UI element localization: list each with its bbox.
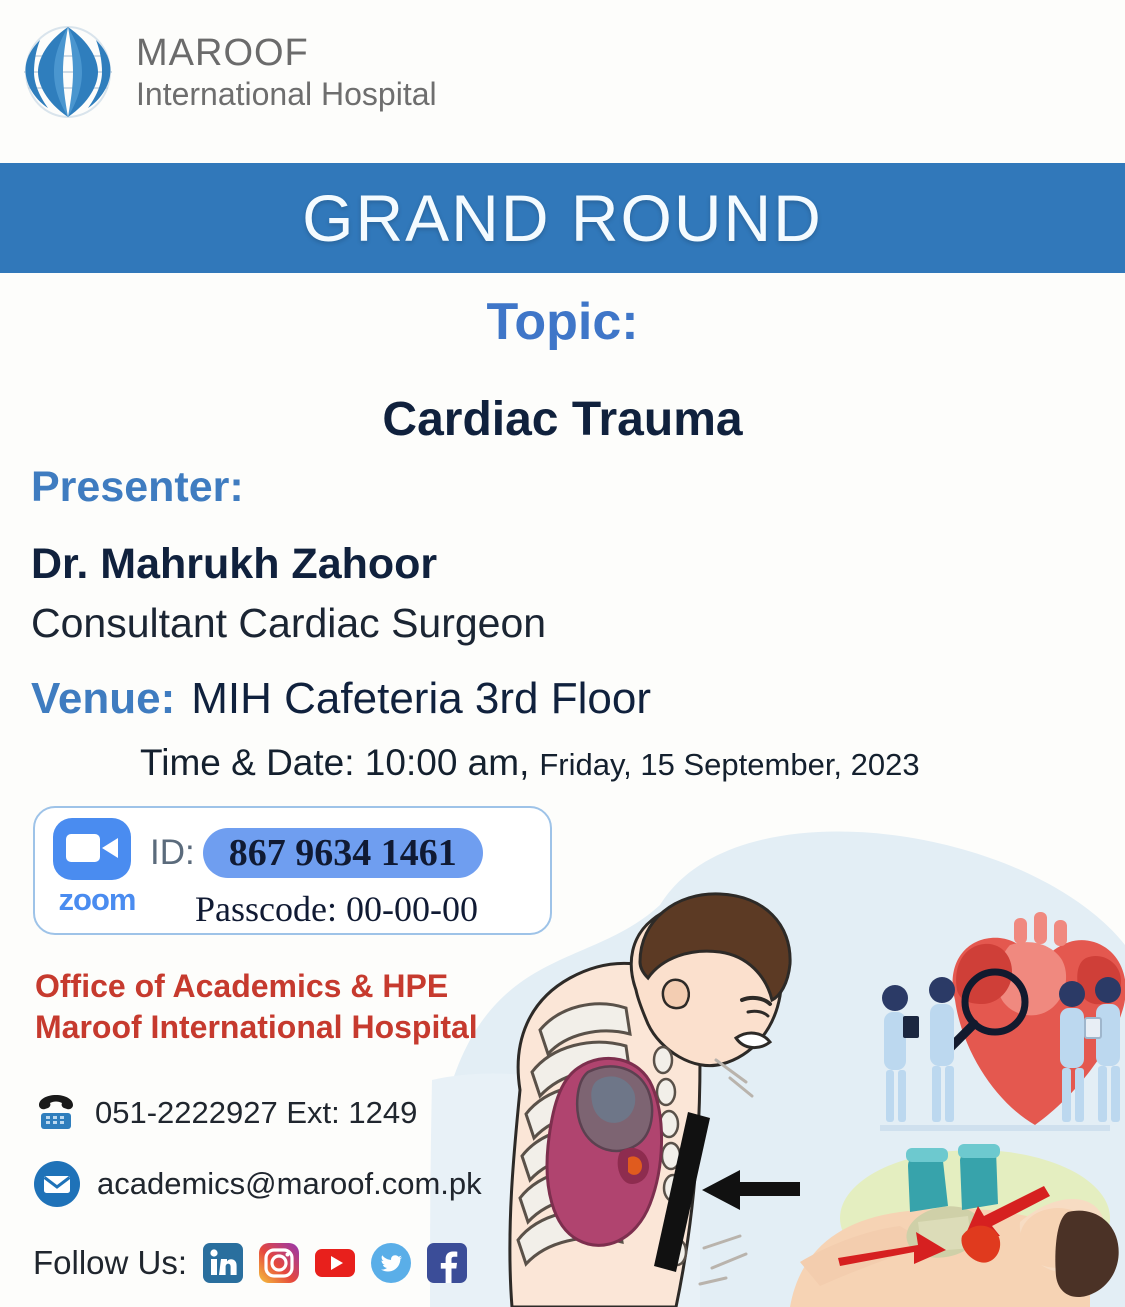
poster: MAROOF International Hospital GRAND ROUN…	[0, 0, 1125, 1307]
chest-trauma-illustration	[510, 894, 800, 1307]
presenter-role: Consultant Cardiac Surgeon	[31, 600, 546, 647]
banner-title: GRAND ROUND	[302, 180, 823, 256]
heart-team-illustration	[880, 912, 1125, 1131]
brand-subtitle: International Hospital	[136, 78, 437, 110]
office-block: Office of Academics & HPE Maroof Interna…	[35, 966, 478, 1048]
telephone-icon	[33, 1093, 79, 1133]
schedule-date: Friday, 15 September, 2023	[539, 747, 919, 783]
zoom-details-box: zoom ID: 867 9634 1461 Passcode: 00-00-0…	[33, 806, 552, 935]
venue-row: Venue: MIH Cafeteria 3rd Floor	[31, 674, 651, 724]
zoom-id-row: ID: 867 9634 1461	[150, 828, 483, 878]
follow-us-row: Follow Us:	[33, 1243, 467, 1283]
facebook-icon[interactable]	[427, 1243, 467, 1283]
zoom-passcode: Passcode: 00-00-00	[195, 888, 478, 930]
grand-round-banner: GRAND ROUND	[0, 163, 1125, 273]
presenter-name: Dr. Mahrukh Zahoor	[31, 540, 437, 589]
follow-us-label: Follow Us:	[33, 1244, 187, 1282]
zoom-wordmark: zoom	[53, 882, 141, 918]
instagram-icon[interactable]	[259, 1243, 299, 1283]
zoom-id-label: ID:	[150, 833, 195, 873]
zoom-logo: zoom	[53, 818, 141, 918]
email-contact[interactable]: academics@maroof.com.pk	[33, 1160, 482, 1208]
phone-contact[interactable]: 051-2222927 Ext: 1249	[33, 1093, 417, 1133]
cpr-illustration	[790, 1144, 1119, 1307]
venue-label: Venue:	[31, 674, 175, 724]
phone-number: 051-2222927 Ext: 1249	[95, 1095, 417, 1131]
globe-icon	[18, 22, 118, 122]
venue-value: MIH Cafeteria 3rd Floor	[191, 674, 651, 724]
twitter-icon[interactable]	[371, 1243, 411, 1283]
office-line-1: Office of Academics & HPE	[35, 966, 478, 1007]
envelope-icon	[33, 1160, 81, 1208]
zoom-camera-icon	[53, 818, 131, 880]
topic-value: Cardiac Trauma	[0, 392, 1125, 447]
youtube-icon[interactable]	[315, 1243, 355, 1283]
office-line-2: Maroof International Hospital	[35, 1007, 478, 1048]
brand-name: MAROOF	[136, 34, 437, 72]
linkedin-icon[interactable]	[203, 1243, 243, 1283]
topic-label: Topic:	[0, 292, 1125, 352]
email-address: academics@maroof.com.pk	[97, 1166, 482, 1202]
schedule-time: Time & Date: 10:00 am,	[140, 742, 529, 784]
zoom-id-value[interactable]: 867 9634 1461	[203, 828, 483, 878]
brand-logo: MAROOF International Hospital	[18, 22, 437, 122]
poster-header: MAROOF International Hospital	[0, 0, 1125, 160]
schedule-row: Time & Date: 10:00 am, Friday, 15 Septem…	[140, 742, 920, 784]
presenter-label: Presenter:	[31, 463, 244, 512]
